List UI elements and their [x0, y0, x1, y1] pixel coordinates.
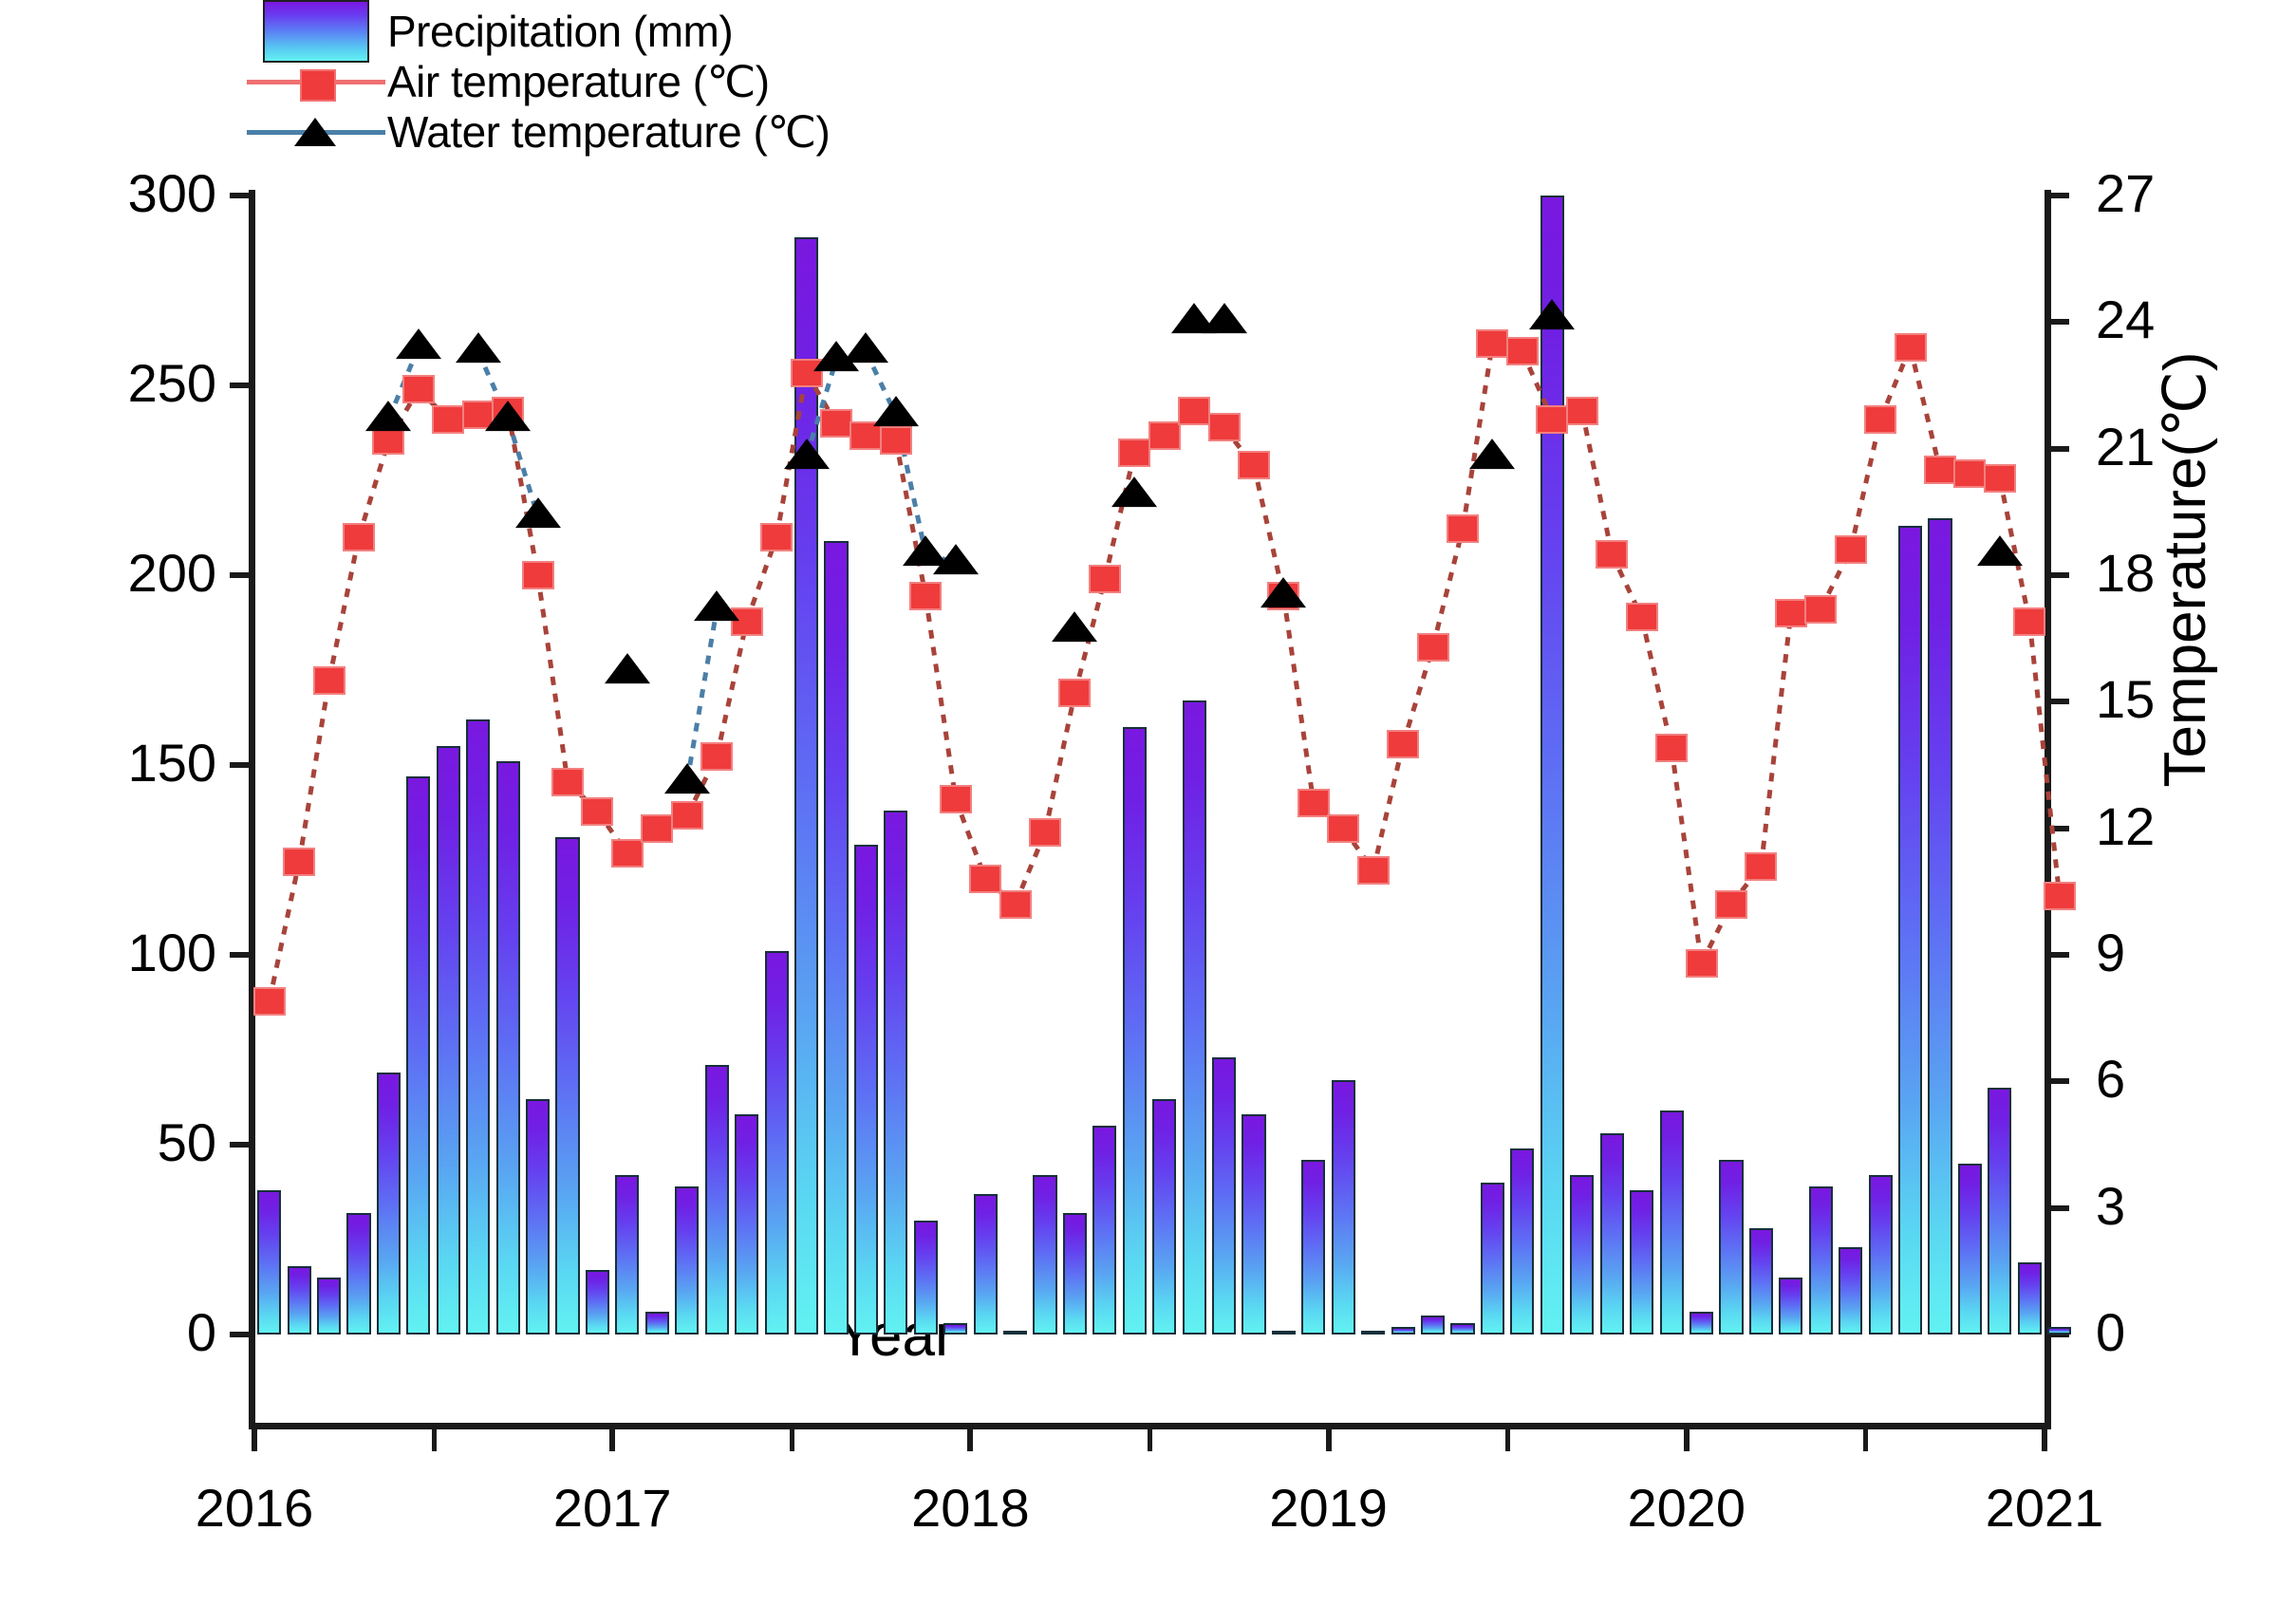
air-temperature-marker — [1953, 459, 1986, 488]
air-temperature-marker — [313, 666, 345, 695]
water-temperature-marker — [1977, 535, 2023, 566]
right-tick-mark — [2045, 699, 2069, 704]
precipitation-swatch-key — [245, 0, 387, 63]
left-tick-mark — [230, 383, 254, 388]
air-temperature-marker — [641, 814, 673, 843]
legend-label-water-temperature: Water temperature (℃) — [387, 106, 830, 158]
water-temperature-marker — [933, 544, 979, 574]
right-tick-label: 24 — [2096, 293, 2229, 346]
air-temperature-marker — [909, 582, 942, 610]
air-temperature-marker — [1118, 439, 1150, 467]
right-tick-mark — [2045, 952, 2069, 958]
air-temperature-marker — [1447, 514, 1479, 543]
air-temperature-marker — [940, 785, 972, 813]
air-temperature-marker — [581, 797, 613, 826]
left-tick-mark — [230, 1332, 254, 1337]
air-temperature-marker — [1566, 397, 1598, 425]
air-temperature-marker — [1238, 451, 1270, 479]
air-temperature-marker — [1715, 890, 1747, 919]
half-year-tick-mark — [432, 1423, 437, 1451]
air-temperature-marker — [1686, 949, 1718, 978]
half-year-tick-mark — [1863, 1423, 1868, 1451]
air-temperature-marker — [253, 987, 286, 1016]
right-tick-label: 18 — [2096, 547, 2229, 600]
left-tick-label: 200 — [36, 547, 216, 600]
chart-figure: Precipitation (mm) Air temperature (℃) W… — [0, 0, 2278, 1624]
year-tick-mark — [252, 1423, 257, 1451]
air-temperature-marker — [1476, 329, 1508, 358]
air-temperature-marker — [1655, 734, 1688, 762]
legend-label-precipitation: Precipitation (mm) — [387, 6, 733, 57]
year-tick-label: 2021 — [1940, 1482, 2149, 1535]
air-temperature-marker — [969, 865, 1001, 893]
gradient-swatch-icon — [263, 0, 369, 63]
air-temperature-marker — [551, 768, 584, 796]
right-tick-label: 15 — [2096, 673, 2229, 726]
air-temperature-marker — [1835, 535, 1867, 564]
air-temperature-marker — [820, 409, 852, 438]
water-temperature-marker — [784, 439, 830, 469]
water-temperature-marker — [1469, 439, 1515, 469]
air-temperature-marker — [671, 801, 703, 830]
water-temperature-marker — [664, 763, 710, 793]
half-year-tick-mark — [1505, 1423, 1510, 1451]
water-temperature-line-key — [245, 116, 387, 148]
right-tick-mark — [2045, 446, 2069, 452]
water-temperature-marker — [1111, 476, 1157, 507]
air-temperature-marker — [1775, 599, 1807, 627]
air-temperature-marker — [999, 890, 1032, 919]
air-temperature-marker — [283, 848, 315, 876]
left-tick-label: 100 — [36, 926, 216, 980]
air-temperature-marker — [432, 405, 464, 434]
right-tick-mark — [2045, 193, 2069, 198]
right-tick-label: 9 — [2096, 926, 2229, 980]
air-temperature-marker — [1208, 413, 1241, 441]
air-temperature-line-key — [245, 65, 387, 98]
year-tick-label: 2018 — [866, 1482, 1074, 1535]
air-temperature-marker — [343, 523, 375, 551]
right-tick-mark — [2045, 319, 2069, 325]
right-tick-label: 0 — [2096, 1306, 2229, 1359]
water-temperature-marker — [515, 497, 561, 528]
air-temperature-marker — [522, 561, 554, 589]
water-temperature-marker — [694, 590, 739, 621]
year-tick-label: 2020 — [1582, 1482, 1791, 1535]
air-temperature-marker — [1804, 595, 1837, 624]
air-temperature-marker — [1327, 814, 1359, 843]
triangle-marker-icon — [294, 118, 336, 146]
air-temperature-marker — [880, 426, 912, 455]
left-tick-mark — [230, 572, 254, 578]
air-temperature-marker — [1298, 789, 1330, 817]
water-temperature-marker — [1052, 611, 1097, 642]
year-tick-mark — [1326, 1423, 1332, 1451]
square-marker-icon — [300, 69, 336, 102]
water-temperature-marker — [605, 653, 650, 683]
left-tick-label: 150 — [36, 737, 216, 790]
precipitation-bar — [2047, 1327, 2071, 1335]
air-temperature-marker — [1058, 679, 1091, 707]
year-tick-label: 2019 — [1224, 1482, 1433, 1535]
legend-item-water-temperature: Water temperature (℃) — [245, 106, 1023, 157]
year-tick-label: 2017 — [508, 1482, 717, 1535]
air-temperature-marker — [1895, 333, 1927, 362]
water-temperature-marker — [873, 396, 919, 426]
air-temperature-marker — [2013, 607, 2045, 636]
right-tick-mark — [2045, 572, 2069, 578]
left-tick-label: 300 — [36, 167, 216, 220]
right-tick-label: 6 — [2096, 1053, 2229, 1106]
left-tick-label: 50 — [36, 1116, 216, 1169]
left-tick-label: 0 — [36, 1306, 216, 1359]
water-temperature-marker — [485, 401, 531, 431]
air-temperature-marker — [1148, 421, 1181, 450]
water-temperature-marker — [1529, 299, 1575, 329]
right-tick-label: 12 — [2096, 800, 2229, 853]
right-tick-mark — [2045, 1078, 2069, 1084]
air-temperature-marker — [1536, 405, 1568, 434]
air-temperature-marker — [1864, 405, 1896, 434]
right-axis-line — [2045, 190, 2051, 1424]
year-tick-mark — [1684, 1423, 1690, 1451]
air-temperature-marker — [1089, 565, 1121, 593]
half-year-tick-mark — [1148, 1423, 1152, 1451]
air-temperature-marker — [1596, 540, 1628, 569]
water-temperature-marker — [843, 333, 888, 364]
right-tick-label: 27 — [2096, 167, 2229, 220]
air-temperature-marker — [1626, 603, 1658, 631]
year-tick-mark — [609, 1423, 615, 1451]
air-temperature-marker — [1924, 456, 1956, 484]
air-temperature-marker — [2044, 882, 2076, 910]
left-tick-mark — [230, 1142, 254, 1148]
right-tick-label: 21 — [2096, 420, 2229, 474]
left-tick-mark — [230, 193, 254, 198]
right-tick-label: 3 — [2096, 1180, 2229, 1233]
air-temperature-marker — [1417, 633, 1449, 662]
air-temperature-marker — [1745, 852, 1777, 881]
left-tick-mark — [230, 952, 254, 958]
legend-item-air-temperature: Air temperature (℃) — [245, 56, 1023, 106]
left-tick-label: 250 — [36, 357, 216, 410]
right-tick-mark — [2045, 826, 2069, 831]
legend-label-air-temperature: Air temperature (℃) — [387, 56, 770, 107]
water-temperature-marker — [456, 333, 501, 364]
legend-item-precipitation: Precipitation (mm) — [245, 6, 1023, 56]
air-temperature-marker — [1029, 818, 1061, 847]
air-temperature-marker — [760, 523, 793, 551]
air-temperature-marker — [1178, 397, 1210, 425]
left-tick-mark — [230, 762, 254, 768]
year-tick-mark — [2042, 1423, 2047, 1451]
plot-area: 050100150200250300 0369121518212427 2016… — [254, 196, 2045, 1335]
half-year-tick-mark — [790, 1423, 794, 1451]
air-temperature-marker — [1387, 730, 1419, 758]
temperature-markers — [254, 196, 2045, 1335]
water-temperature-marker — [396, 328, 441, 359]
water-temperature-marker — [1260, 577, 1306, 607]
year-tick-label: 2016 — [150, 1482, 359, 1535]
water-temperature-marker — [365, 401, 411, 431]
air-temperature-marker — [1984, 464, 2016, 493]
air-temperature-marker — [1357, 856, 1390, 885]
chart-legend: Precipitation (mm) Air temperature (℃) W… — [245, 6, 1023, 157]
air-temperature-marker — [611, 839, 644, 868]
right-tick-mark — [2045, 1205, 2069, 1211]
air-temperature-marker — [1506, 337, 1539, 365]
water-temperature-marker — [1202, 303, 1247, 333]
year-tick-mark — [967, 1423, 973, 1451]
